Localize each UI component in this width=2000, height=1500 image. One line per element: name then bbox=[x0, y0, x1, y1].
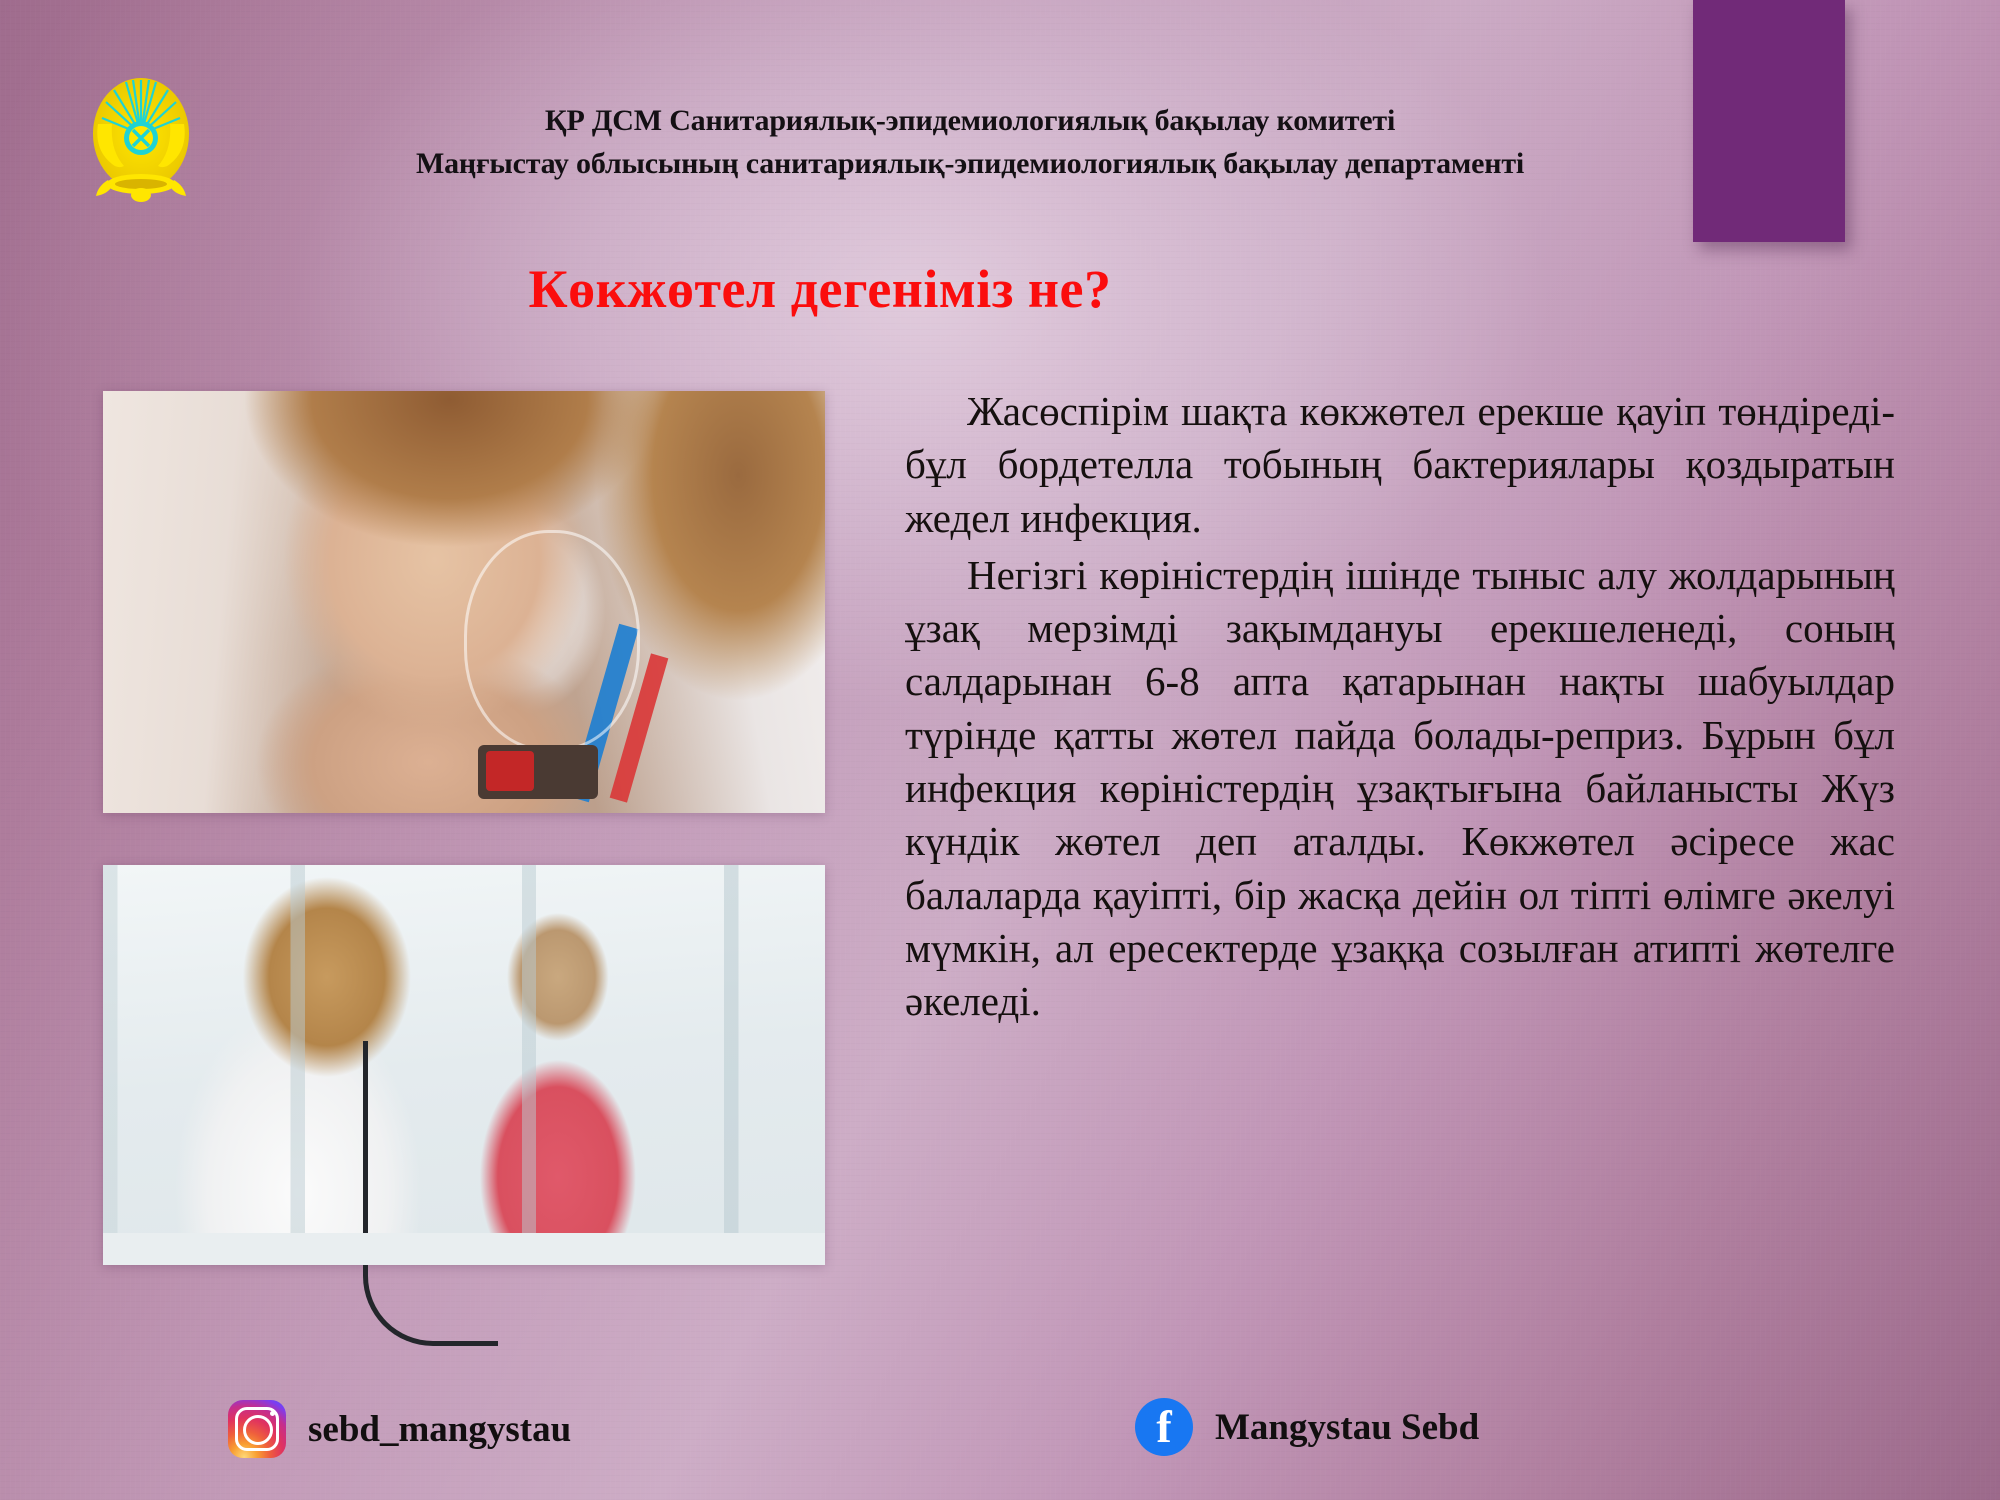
kazakhstan-coat-of-arms-icon bbox=[86, 62, 196, 212]
instagram-account[interactable]: sebd_mangystau bbox=[228, 1400, 571, 1458]
body-text: Жасөспірім шақта көкжөтел ерекше қауіп т… bbox=[905, 385, 1895, 1029]
nebulizer-device-red-panel bbox=[486, 751, 534, 791]
body-paragraph-1: Жасөспірім шақта көкжөтел ерекше қауіп т… bbox=[905, 385, 1895, 545]
instagram-handle: sebd_mangystau bbox=[308, 1408, 571, 1451]
org-header-line-1: ҚР ДСМ Санитариялық-эпидемиологиялық бақ… bbox=[300, 100, 1640, 143]
organization-header: ҚР ДСМ Санитариялық-эпидемиологиялық бақ… bbox=[300, 100, 1640, 185]
instagram-icon-dot bbox=[270, 1411, 275, 1416]
facebook-handle: Mangystau Sebd bbox=[1215, 1406, 1479, 1449]
page-title: Көкжөтел дегеніміз не? bbox=[0, 258, 1640, 320]
instagram-icon-lens bbox=[243, 1415, 273, 1445]
facebook-icon-glyph: f bbox=[1135, 1404, 1193, 1450]
facebook-account[interactable]: f Mangystau Sebd bbox=[1135, 1398, 1479, 1456]
instagram-icon[interactable] bbox=[228, 1400, 286, 1458]
decorative-purple-bar bbox=[1693, 0, 1845, 242]
org-header-line-2: Маңғыстау облысының санитариялық-эпидеми… bbox=[300, 143, 1640, 186]
photo-doctor-examining-child bbox=[103, 865, 825, 1265]
facebook-icon[interactable]: f bbox=[1135, 1398, 1193, 1456]
photo-child-nebulizer bbox=[103, 391, 825, 813]
window-sill bbox=[103, 1233, 825, 1265]
nebulizer-mask-outline bbox=[464, 530, 640, 751]
body-paragraph-2: Негізгі көріністердің ішінде тыныс алу ж… bbox=[905, 549, 1895, 1029]
stethoscope-tube bbox=[363, 1041, 498, 1346]
nebulizer-device bbox=[478, 745, 598, 799]
slide-root: ҚР ДСМ Санитариялық-эпидемиологиялық бақ… bbox=[0, 0, 2000, 1500]
